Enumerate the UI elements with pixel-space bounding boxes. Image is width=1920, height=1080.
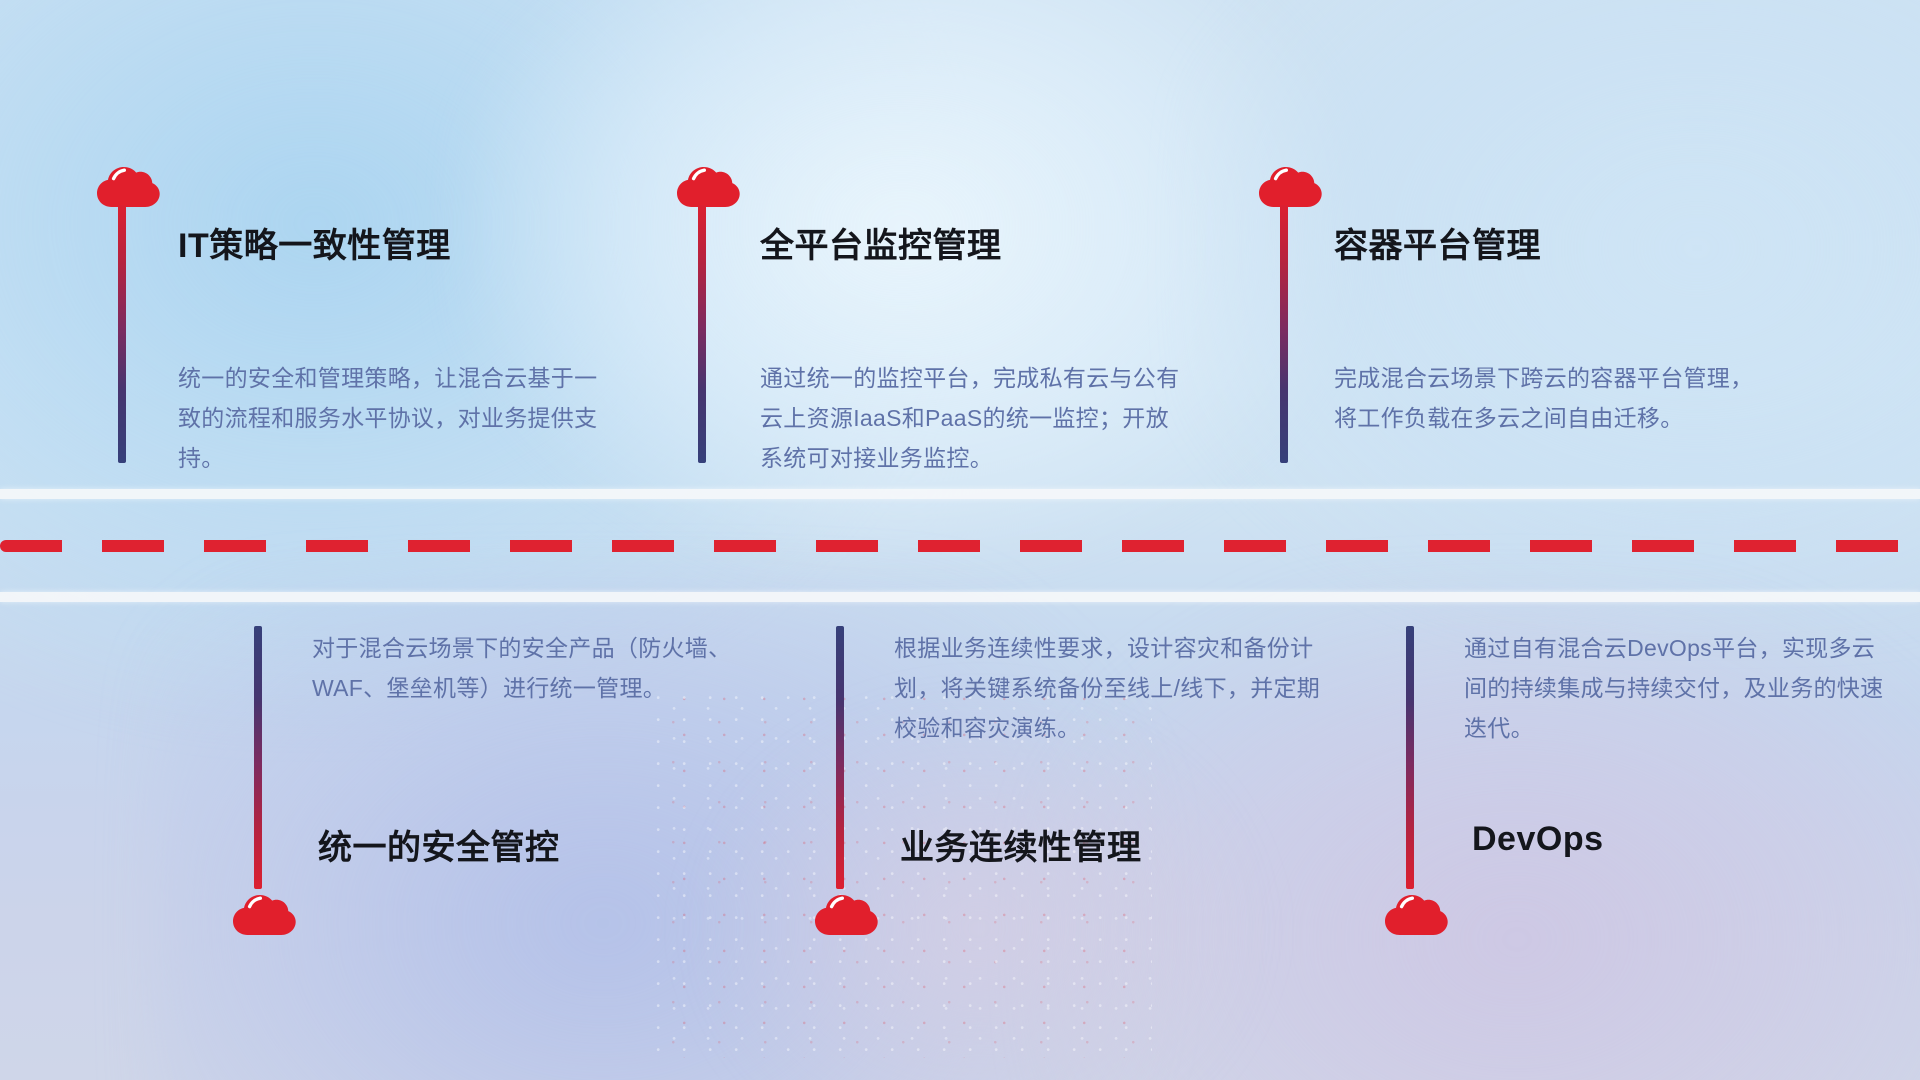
signpost-title: 全平台监控管理: [760, 218, 1002, 267]
signpost-bottom-3[interactable]: 通过自有混合云DevOps平台，实现多云间的持续集成与持续交付，及业务的快速迭代…: [1240, 602, 1920, 1080]
signpost-description: 通过自有混合云DevOps平台，实现多云间的持续集成与持续交付，及业务的快速迭代…: [1464, 628, 1894, 748]
signpost-description: 通过统一的监控平台，完成私有云与公有云上资源IaaS和PaaS的统一监控；开放系…: [760, 358, 1190, 478]
road-edge-top: [0, 489, 1920, 499]
road-edge-bottom: [0, 592, 1920, 602]
cloud-icon: [96, 162, 160, 208]
signpost-title: IT策略一致性管理: [178, 218, 451, 267]
signpost-stem: [836, 626, 844, 889]
infographic-stage: IT策略一致性管理 统一的安全和管理策略，让混合云基于一致的流程和服务水平协议，…: [0, 0, 1920, 1080]
signpost-title: DevOps: [1472, 820, 1604, 859]
signpost-description: 完成混合云场景下跨云的容器平台管理，将工作负载在多云之间自由迁移。: [1334, 358, 1764, 438]
signpost-stem: [118, 205, 126, 463]
cloud-icon: [232, 890, 296, 936]
signpost-top-1[interactable]: IT策略一致性管理 统一的安全和管理策略，让混合云基于一致的流程和服务水平协议，…: [0, 0, 640, 489]
signpost-title: 容器平台管理: [1334, 218, 1541, 267]
signpost-bottom-2[interactable]: 根据业务连续性要求，设计容灾和备份计划，将关键系统备份至线上/线下，并定期校验和…: [640, 602, 1280, 1080]
cloud-icon: [676, 162, 740, 208]
signpost-top-3[interactable]: 容器平台管理 完成混合云场景下跨云的容器平台管理，将工作负载在多云之间自由迁移。: [1240, 0, 1920, 489]
road: [0, 489, 1920, 602]
signpost-top-2[interactable]: 全平台监控管理 通过统一的监控平台，完成私有云与公有云上资源IaaS和PaaS的…: [640, 0, 1280, 489]
signpost-bottom-1[interactable]: 对于混合云场景下的安全产品（防火墙、WAF、堡垒机等）进行统一管理。 统一的安全…: [0, 602, 640, 1080]
signpost-title: 业务连续性管理: [900, 820, 1142, 869]
signpost-stem: [254, 626, 262, 889]
signpost-stem: [698, 205, 706, 463]
signpost-title: 统一的安全管控: [318, 820, 560, 869]
cloud-icon: [1258, 162, 1322, 208]
signpost-stem: [1280, 205, 1288, 463]
signpost-description: 统一的安全和管理策略，让混合云基于一致的流程和服务水平协议，对业务提供支持。: [178, 358, 608, 478]
cloud-icon: [1384, 890, 1448, 936]
cloud-icon: [814, 890, 878, 936]
signpost-stem: [1406, 626, 1414, 889]
road-center-dashed-line: [0, 540, 1920, 552]
